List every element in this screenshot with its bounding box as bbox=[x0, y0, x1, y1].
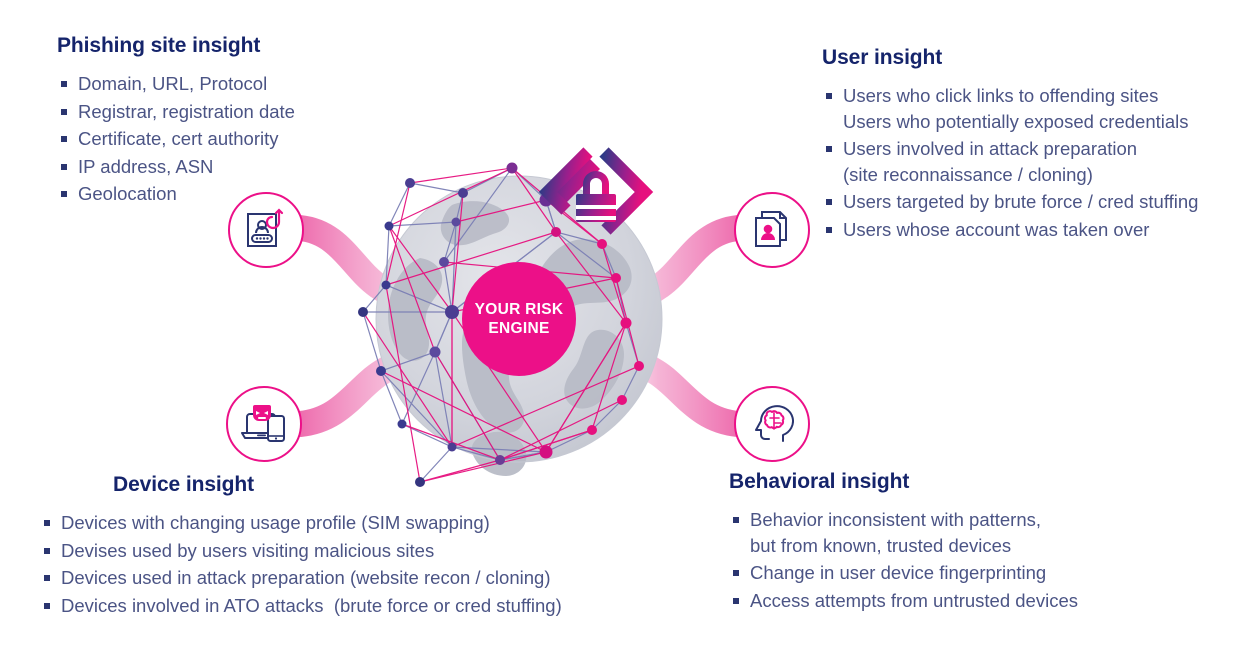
list-item: Devices used in attack preparation (webs… bbox=[40, 565, 562, 591]
risk-engine-badge: YOUR RISK ENGINE bbox=[462, 262, 576, 376]
list-item: Change in user device fingerprinting bbox=[729, 560, 1078, 586]
user-insight-block: User insight Users who click links to of… bbox=[822, 46, 1198, 244]
list-item: Users who potentially exposed credential… bbox=[822, 109, 1198, 135]
user-insight-icon-bubble bbox=[734, 192, 810, 268]
list-item: Domain, URL, Protocol bbox=[57, 71, 295, 97]
list-item: Certificate, cert authority bbox=[57, 126, 295, 152]
list-item: Users targeted by brute force / cred stu… bbox=[822, 189, 1198, 215]
list-item: Devises used by users visiting malicious… bbox=[40, 538, 562, 564]
device-insight-list: Devices with changing usage profile (SIM… bbox=[40, 510, 562, 618]
list-item: Access attempts from untrusted devices bbox=[729, 588, 1078, 614]
device-insight-title: Device insight bbox=[113, 473, 562, 497]
behavioral-insight-list: Behavior inconsistent with patterns, but… bbox=[729, 507, 1078, 613]
user-documents-icon bbox=[750, 208, 794, 252]
list-item: IP address, ASN bbox=[57, 154, 295, 180]
behavioral-insight-block: Behavioral insight Behavior inconsistent… bbox=[729, 470, 1078, 615]
head-brain-icon bbox=[750, 403, 794, 445]
user-insight-list: Users who click links to offending sites… bbox=[822, 83, 1198, 242]
list-item: Users involved in attack preparation (si… bbox=[822, 136, 1198, 187]
lock-brackets-icon bbox=[534, 152, 644, 230]
phishing-site-insight-title: Phishing site insight bbox=[57, 34, 295, 58]
infographic-canvas: YOUR RISK ENGINE bbox=[0, 0, 1237, 669]
phishing-login-hook-icon bbox=[243, 208, 289, 252]
list-item: Behavior inconsistent with patterns, but… bbox=[729, 507, 1078, 558]
list-item: Users who click links to offending sites bbox=[822, 83, 1198, 109]
list-item: Geolocation bbox=[57, 181, 295, 207]
behavioral-insight-title: Behavioral insight bbox=[729, 470, 1078, 494]
behavioral-insight-icon-bubble bbox=[734, 386, 810, 462]
device-insight-block: Device insight Devices with changing usa… bbox=[40, 473, 562, 620]
device-insight-icon-bubble bbox=[226, 386, 302, 462]
user-insight-title: User insight bbox=[822, 46, 1198, 70]
laptop-phone-hacker-icon bbox=[240, 403, 288, 445]
list-item: Devices with changing usage profile (SIM… bbox=[40, 510, 562, 536]
risk-engine-label: YOUR RISK ENGINE bbox=[475, 300, 564, 338]
list-item: Users whose account was taken over bbox=[822, 217, 1198, 243]
list-item: Registrar, registration date bbox=[57, 99, 295, 125]
phishing-site-insight-block: Phishing site insight Domain, URL, Proto… bbox=[57, 34, 295, 209]
list-item: Devices involved in ATO attacks (brute f… bbox=[40, 593, 562, 619]
phishing-site-insight-list: Domain, URL, Protocol Registrar, registr… bbox=[57, 71, 295, 207]
